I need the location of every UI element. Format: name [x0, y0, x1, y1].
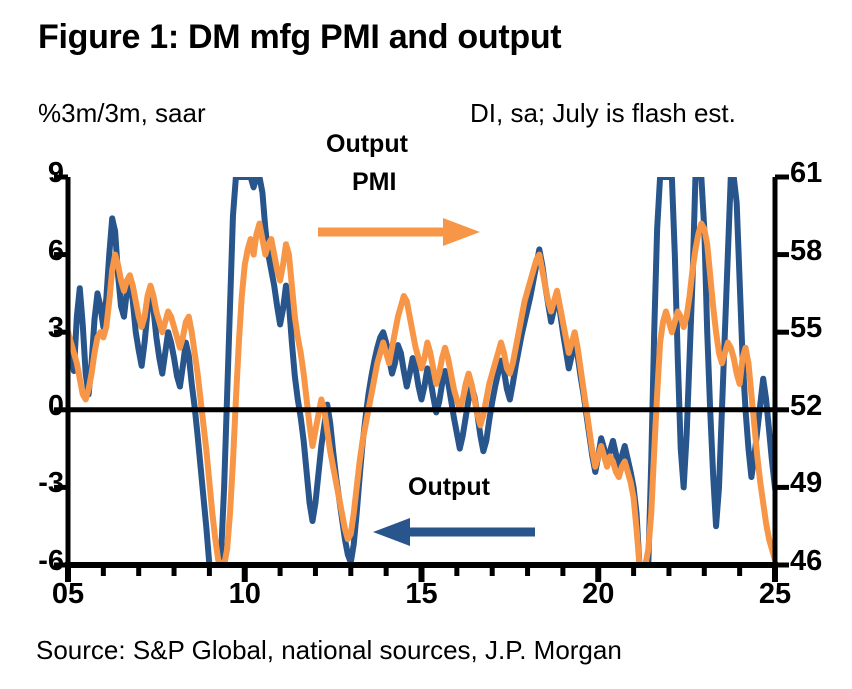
x-axis-ticklabel: 10	[229, 578, 261, 611]
pmi-arrow-right	[318, 218, 480, 246]
x-axis-ticklabel: 15	[405, 578, 437, 611]
x-axis-ticklabel: 25	[759, 578, 791, 611]
source-note: Source: S&P Global, national sources, J.…	[36, 635, 622, 666]
figure-container: Figure 1: DM mfg PMI and output %3m/3m, …	[0, 0, 852, 689]
right-axis-ticklabel: 55	[790, 312, 822, 345]
left-axis-ticklabel: -3	[38, 467, 64, 500]
left-axis-ticklabel: 0	[48, 390, 64, 423]
right-axis-ticklabel: 46	[790, 545, 822, 578]
right-axis-ticklabel: 49	[790, 467, 822, 500]
right-axis-ticklabel: 52	[790, 390, 822, 423]
left-axis-ticklabel: 6	[48, 235, 64, 268]
right-axis-ticklabel: 61	[790, 157, 822, 190]
left-axis-ticklabel: -6	[38, 545, 64, 578]
x-axis-ticklabel: 20	[582, 578, 614, 611]
right-axis-ticklabel: 58	[790, 235, 822, 268]
output-arrow-left	[373, 518, 535, 546]
left-axis-ticklabel: 9	[48, 157, 64, 190]
series-line-output-pmi	[68, 224, 852, 565]
x-axis-ticklabel: 05	[52, 578, 84, 611]
left-axis-ticklabel: 3	[48, 312, 64, 345]
